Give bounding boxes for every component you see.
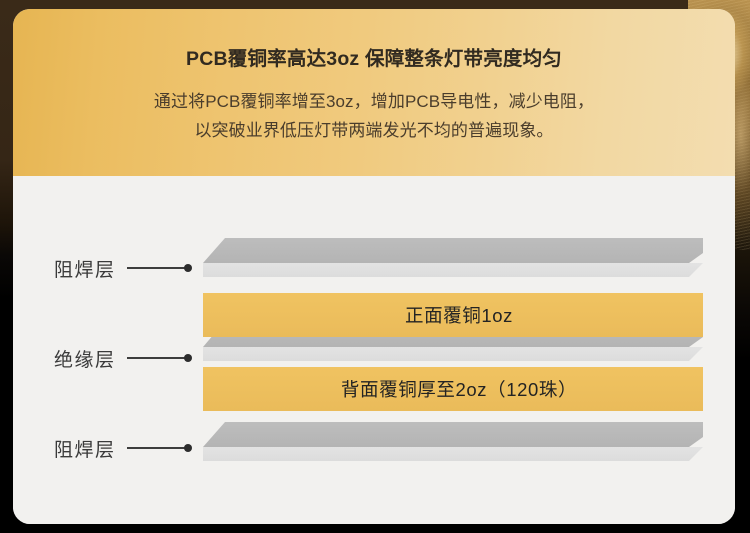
pcb-layer-solder-mask-top bbox=[203, 238, 703, 263]
subtitle-line-1: 通过将PCB覆铜率增至3oz，增加PCB导电性，减少电阻， bbox=[13, 87, 735, 116]
leader-line-icon bbox=[127, 267, 185, 269]
pcb-layer-solder-mask-bottom bbox=[203, 422, 703, 447]
pcb-layer-caption: 正面覆铜1oz bbox=[203, 293, 703, 337]
page-subtitle: 通过将PCB覆铜率增至3oz，增加PCB导电性，减少电阻， 以突破业界低压灯带两… bbox=[13, 87, 735, 145]
leader-dot-icon bbox=[184, 444, 192, 452]
leader-label-text: 绝缘层 bbox=[54, 345, 116, 372]
content-card: PCB覆铜率高达3oz 保障整条灯带亮度均匀 通过将PCB覆铜率增至3oz，增加… bbox=[13, 9, 735, 524]
subtitle-line-2: 以突破业界低压灯带两端发光不均的普遍现象。 bbox=[13, 116, 735, 145]
page-title: PCB覆铜率高达3oz 保障整条灯带亮度均匀 bbox=[13, 42, 735, 71]
layer-front-face bbox=[203, 447, 703, 461]
layer-front-face bbox=[203, 347, 703, 361]
card-header: PCB覆铜率高达3oz 保障整条灯带亮度均匀 通过将PCB覆铜率增至3oz，增加… bbox=[13, 9, 735, 176]
pcb-layer-copper-front: 正面覆铜1oz bbox=[203, 293, 703, 337]
leader-label-solder-mask-bottom: 阻焊层 bbox=[54, 436, 192, 460]
layer-top-face bbox=[203, 422, 703, 447]
layer-front-face bbox=[203, 263, 703, 277]
diagram-area: 阻焊层 绝缘层 阻焊层 背面覆铜厚至2oz（120珠） bbox=[13, 176, 735, 524]
leader-line-icon bbox=[127, 447, 185, 449]
pcb-layer-caption: 背面覆铜厚至2oz（120珠） bbox=[203, 367, 703, 411]
leader-line-icon bbox=[127, 357, 185, 359]
leader-dot-icon bbox=[184, 264, 192, 272]
layer-top-face bbox=[203, 238, 703, 263]
leader-label-solder-mask-top: 阻焊层 bbox=[54, 256, 192, 280]
leader-label-insulation: 绝缘层 bbox=[54, 346, 192, 370]
leader-label-text: 阻焊层 bbox=[54, 435, 116, 462]
leader-label-text: 阻焊层 bbox=[54, 255, 116, 282]
pcb-layer-copper-back: 背面覆铜厚至2oz（120珠） bbox=[203, 367, 703, 411]
leader-dot-icon bbox=[184, 354, 192, 362]
